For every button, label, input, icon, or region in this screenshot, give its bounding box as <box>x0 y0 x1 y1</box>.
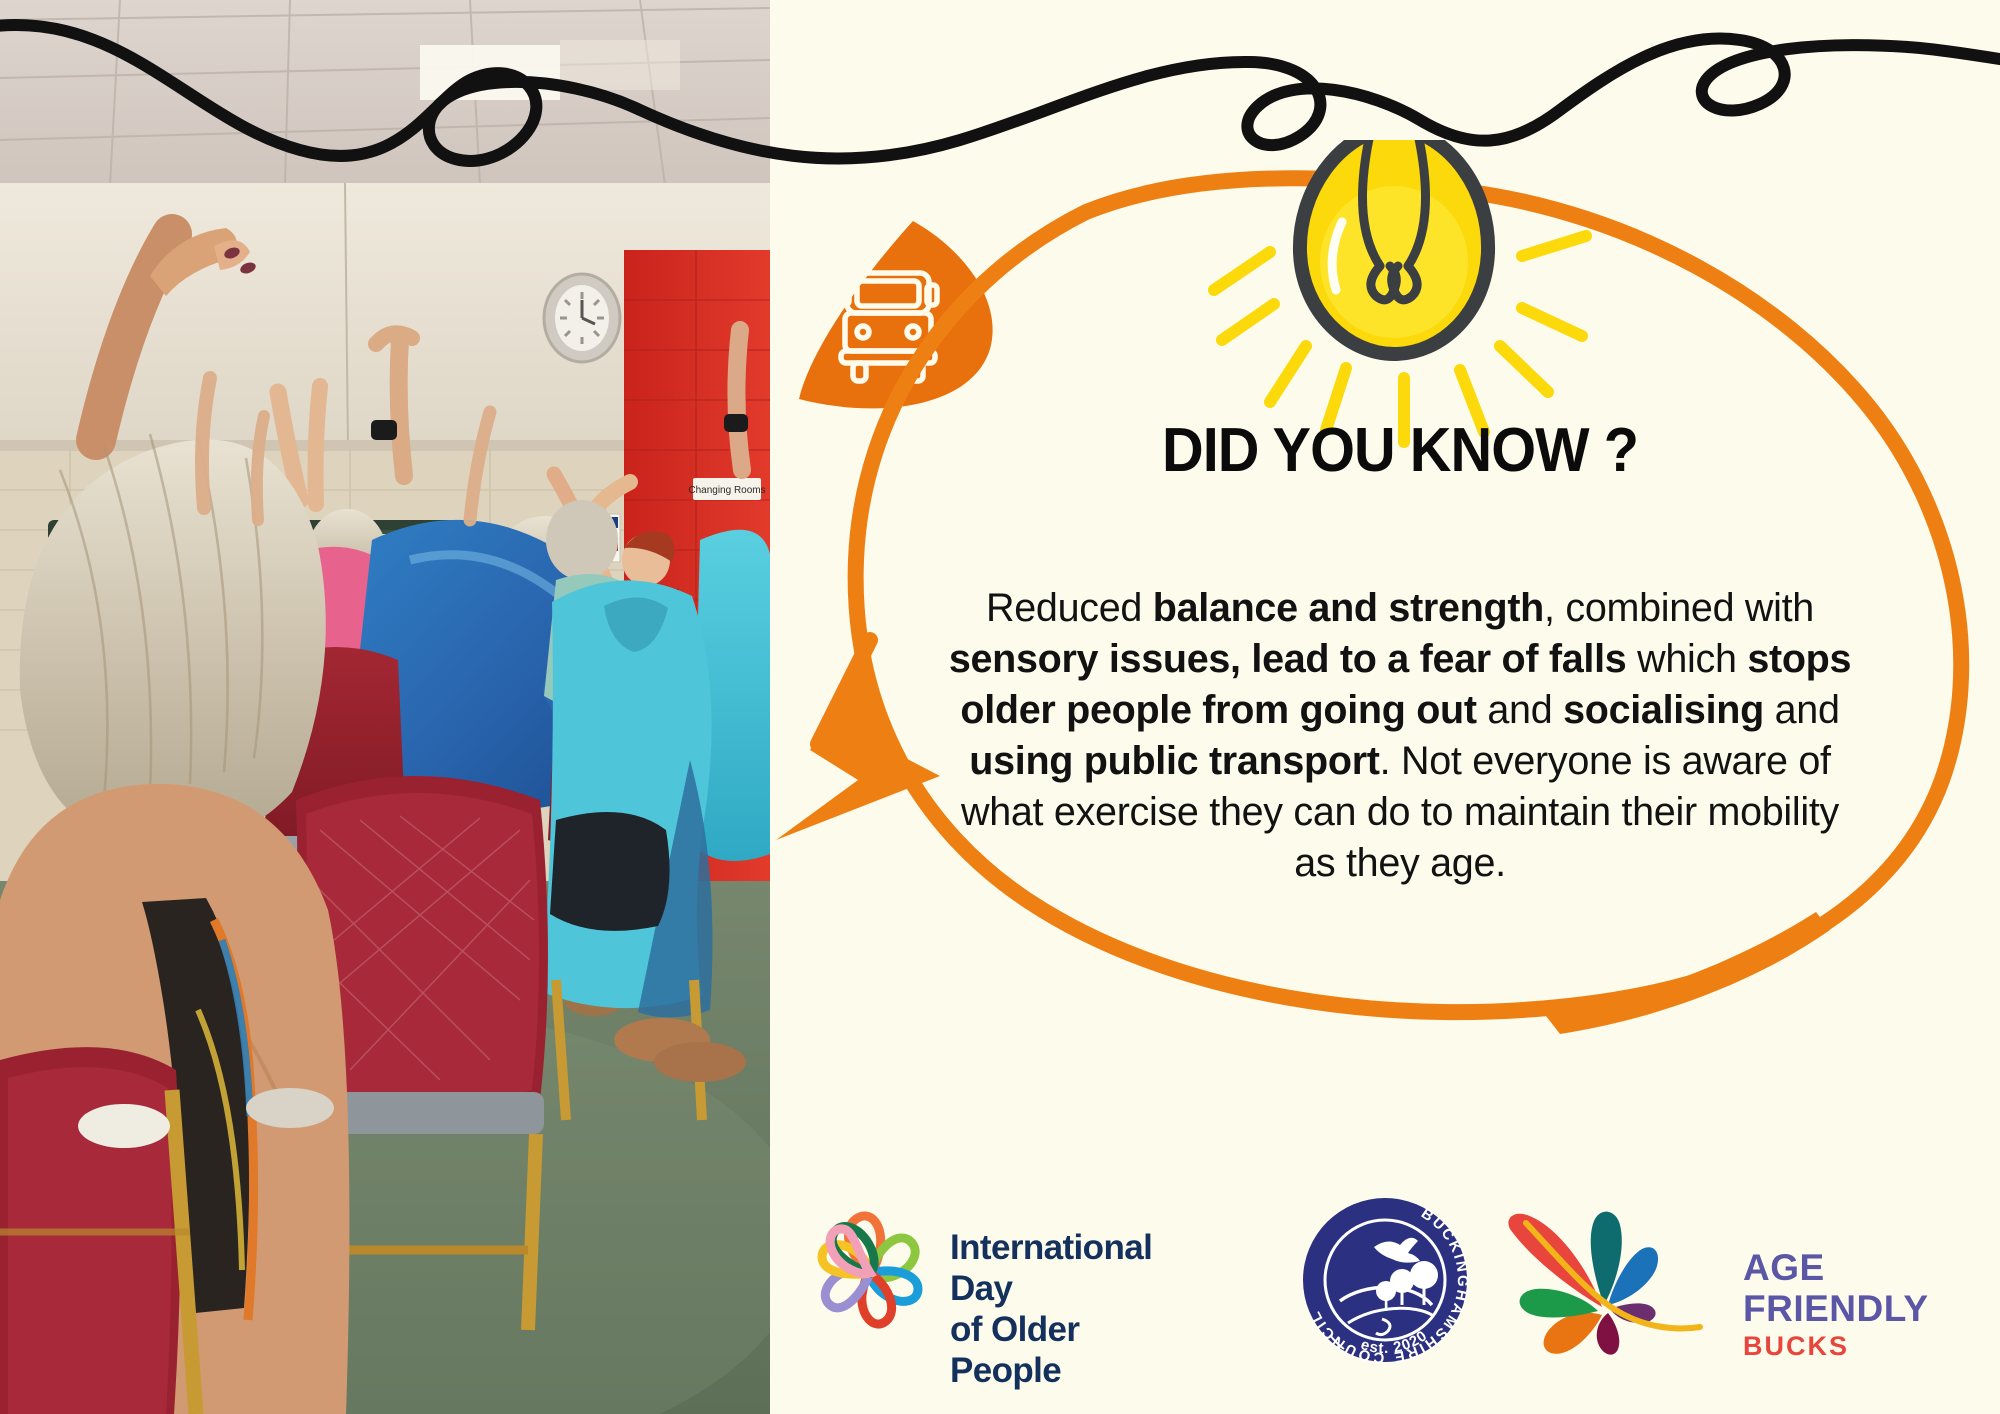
afb-line2: FRIENDLY <box>1743 1288 1929 1330</box>
body-emphasis: socialising <box>1563 688 1764 732</box>
floor-bag <box>550 812 670 931</box>
body-emphasis: using public transport <box>969 739 1379 783</box>
body-plain: and <box>1477 688 1563 732</box>
international-day-of-older-people-logo[interactable]: International Dayof Older People <box>800 1203 940 1348</box>
body-emphasis: sensory issues, lead to a fear of falls <box>949 637 1627 681</box>
idop-wordmark: International Dayof Older People <box>950 1227 1152 1391</box>
exercise-class-photo: camrascan In loving memory of Pauline Ma… <box>0 0 770 1414</box>
idop-line1: International Day <box>950 1228 1152 1308</box>
idop-petal-icon <box>800 1203 940 1343</box>
idop-line2: of Older People <box>950 1310 1079 1390</box>
body-emphasis: balance and strength <box>1153 586 1544 630</box>
body-plain: and <box>1764 688 1840 732</box>
afb-line1: AGE <box>1743 1247 1825 1289</box>
buckinghamshire-council-logo[interactable]: BUCKINGHAMSHIRE COUNCIL <box>1290 1185 1480 1380</box>
age-friendly-bucks-logo[interactable]: AGE FRIENDLY BUCKS <box>1490 1195 1730 1375</box>
afb-line3: BUCKS <box>1743 1331 1849 1362</box>
body-plain: , combined with <box>1544 586 1814 630</box>
poster-canvas: camrascan In loving memory of Pauline Ma… <box>0 0 2000 1414</box>
logo-row: International Dayof Older People BUCKING… <box>790 1185 1980 1375</box>
wall-clock <box>544 274 620 362</box>
body-paragraph: Reduced balance and strength, combined w… <box>940 583 1860 889</box>
afb-petal-icon <box>1490 1195 1730 1370</box>
body-plain: which <box>1626 637 1747 681</box>
photo-illustration: camrascan In loving memory of Pauline Ma… <box>0 0 770 1414</box>
lightbulb-icon <box>1300 140 1488 354</box>
bucks-council-seal-icon: BUCKINGHAMSHIRE COUNCIL <box>1290 1185 1480 1375</box>
page-title: DID YOU KNOW ? <box>1047 415 1754 486</box>
svg-text:Changing Rooms: Changing Rooms <box>688 485 765 496</box>
body-plain: Reduced <box>986 586 1153 630</box>
